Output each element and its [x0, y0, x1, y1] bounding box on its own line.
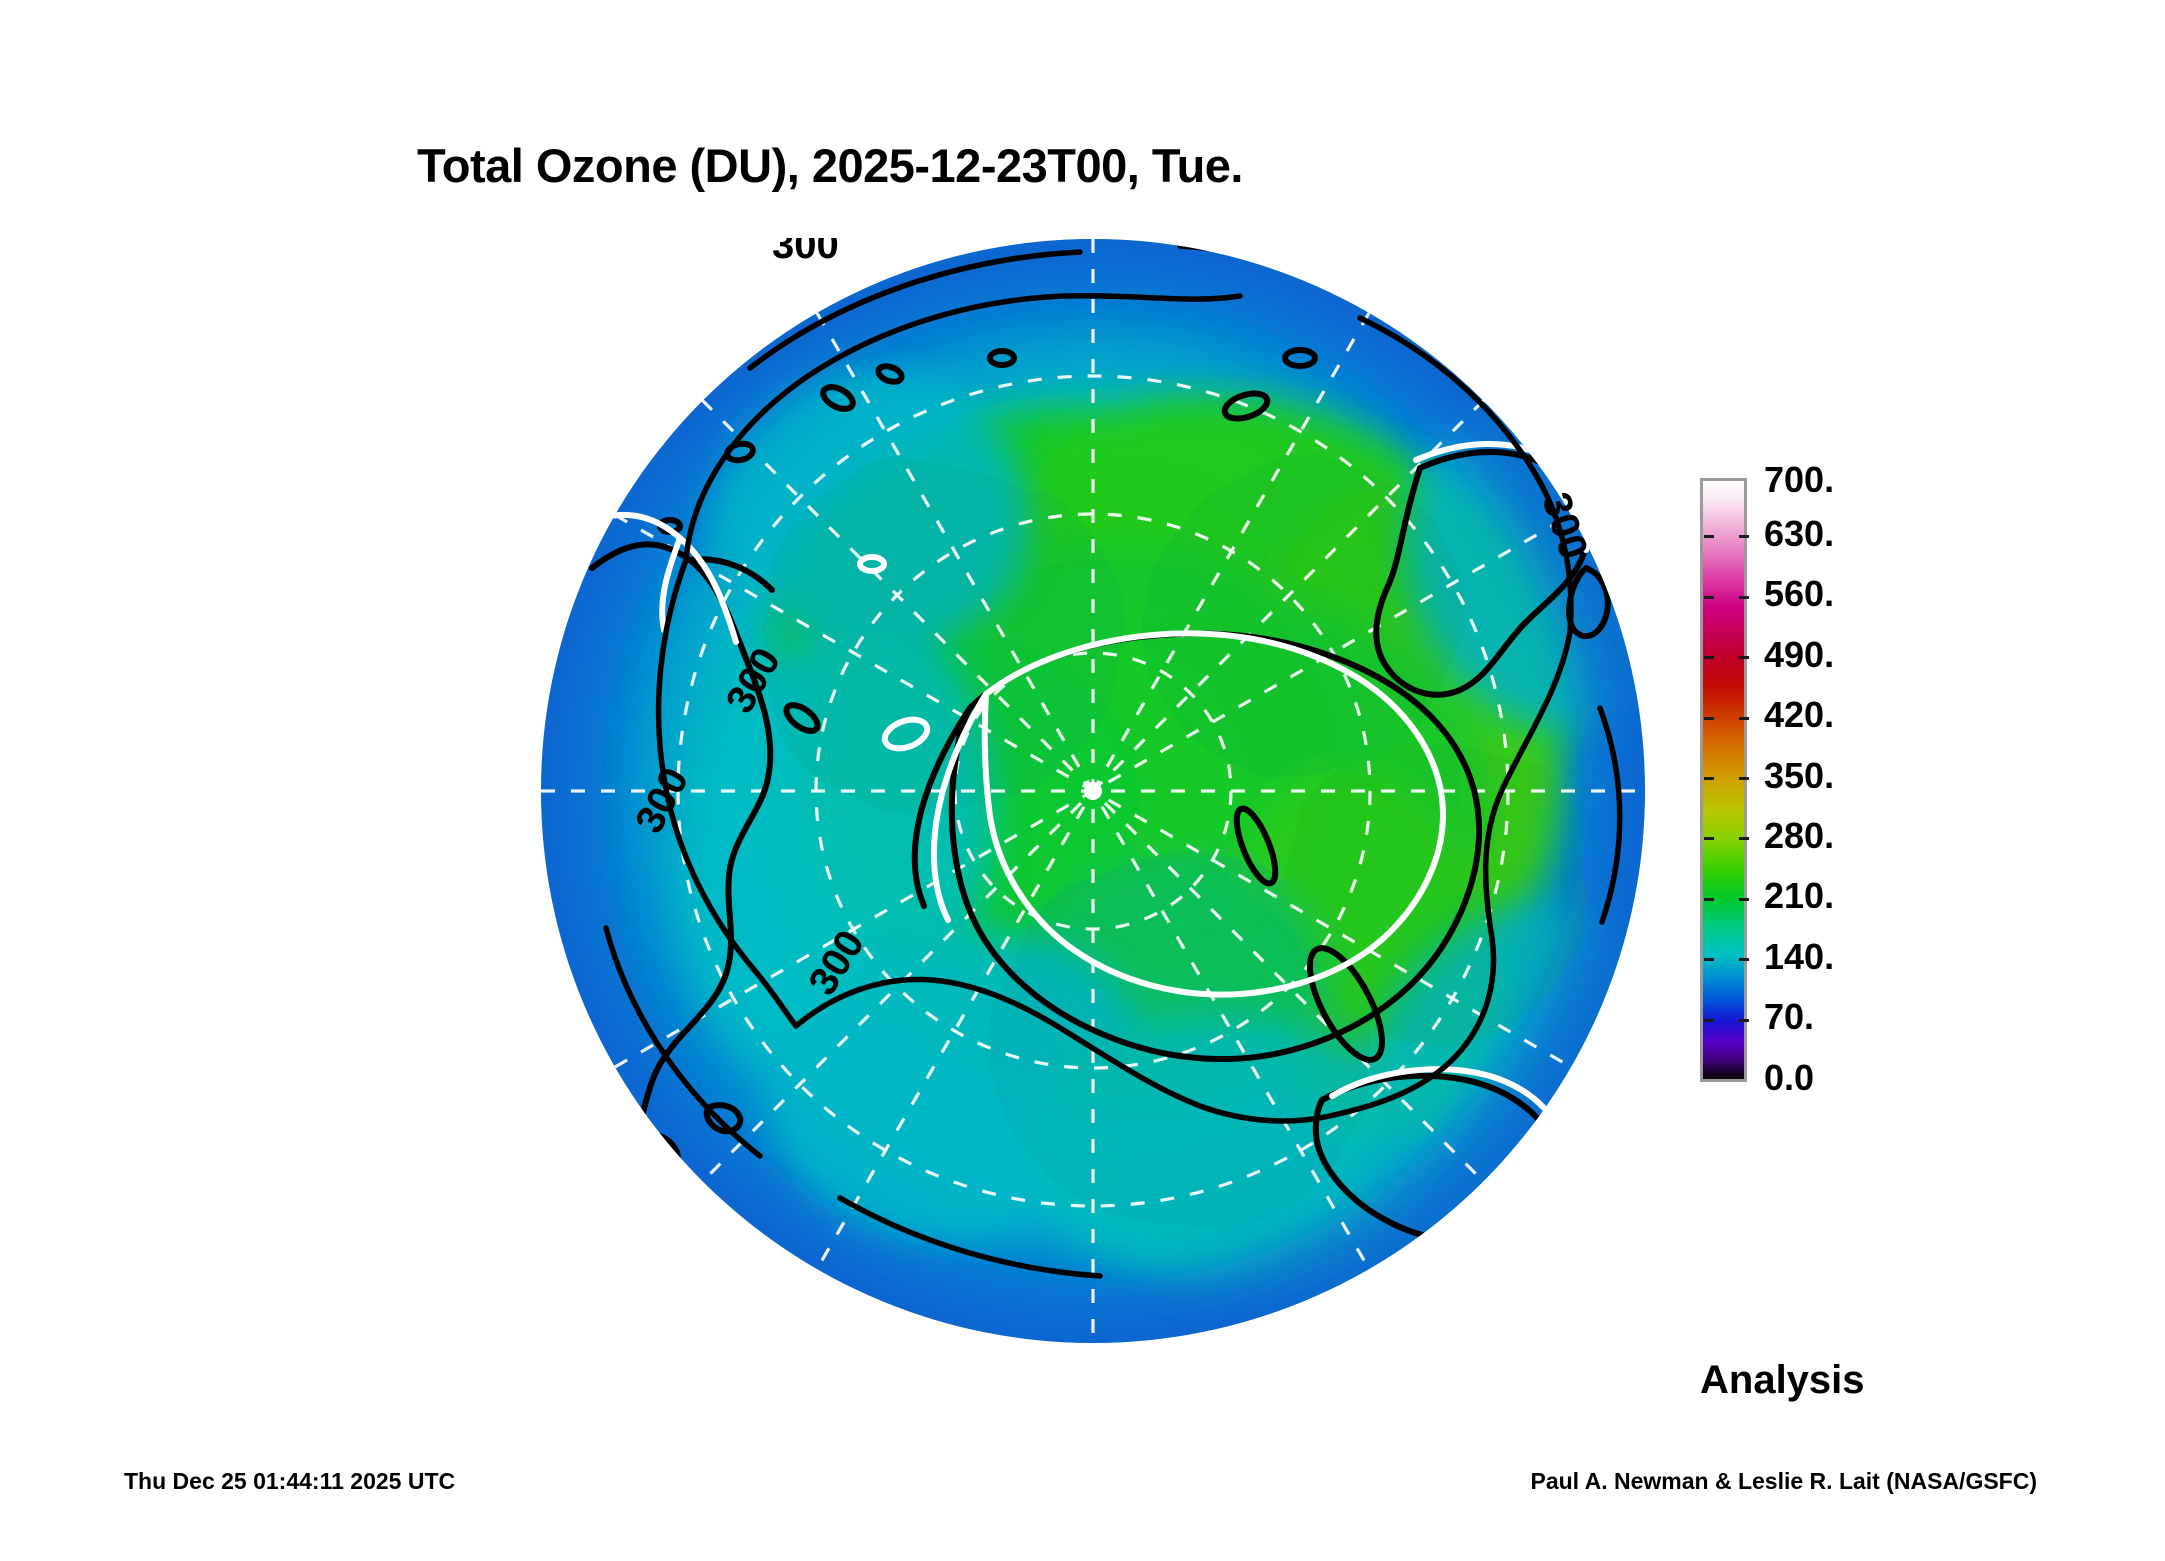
colorbar-tick-280 — [1704, 837, 1749, 840]
colorbar-label-490: 490. — [1764, 637, 1834, 673]
colorbar-label-560: 560. — [1764, 576, 1834, 612]
contour-label-300-top: 300 — [772, 238, 839, 267]
colorbar-label-0: 0.0 — [1764, 1060, 1814, 1096]
colorbar-label-70: 70. — [1764, 999, 1814, 1035]
colorbar-label-700: 700. — [1764, 462, 1834, 498]
page-title: Total Ozone (DU), 2025-12-23T00, Tue. — [0, 138, 1660, 193]
colorbar-label-630: 630. — [1764, 516, 1834, 552]
pole-marker — [1084, 782, 1102, 800]
ozone-map-panel: 300 300 300 300 300 300 300 300 300 300 — [540, 238, 1646, 1344]
colorbar-tick-490 — [1704, 656, 1749, 659]
colorbar-label-210: 210. — [1764, 878, 1834, 914]
colorbar-tick-70 — [1704, 1019, 1749, 1022]
colorbar-tick-210 — [1704, 898, 1749, 901]
colorbar-label-420: 420. — [1764, 697, 1834, 733]
colorbar-label-140: 140. — [1764, 939, 1834, 975]
colorbar-label-280: 280. — [1764, 818, 1834, 854]
colorbar-gradient — [1700, 478, 1747, 1082]
author-credit: Paul A. Newman & Leslie R. Lait (NASA/GS… — [1530, 1468, 2037, 1495]
colorbar-label-350: 350. — [1764, 758, 1834, 794]
generated-timestamp: Thu Dec 25 01:44:11 2025 UTC — [124, 1468, 455, 1495]
colorbar-tick-140 — [1704, 958, 1749, 961]
colorbar-tick-560 — [1704, 596, 1749, 599]
colorbar-tick-350 — [1704, 777, 1749, 780]
colorbar-tick-420 — [1704, 717, 1749, 720]
analysis-label: Analysis — [1700, 1358, 1865, 1403]
colorbar: 700. 630. 560. 490. 420. 350. 280. 210. … — [1700, 478, 2100, 1088]
globe-plot: 300 300 300 300 300 300 300 300 300 300 — [540, 238, 1646, 1344]
colorbar-tick-630 — [1704, 535, 1749, 538]
